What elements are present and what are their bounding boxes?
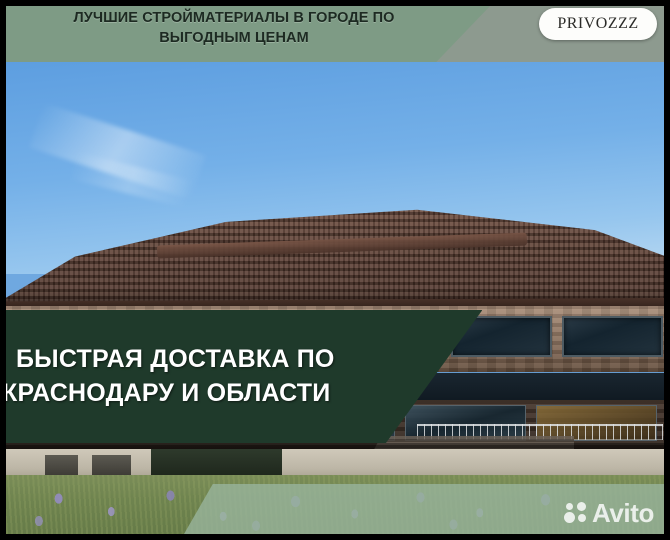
avito-logo-icon (564, 502, 588, 524)
roof (6, 204, 664, 306)
avito-wordmark: Avito (592, 500, 654, 526)
delivery-banner-line1: БЫСТРАЯ ДОСТАВКА ПО (0, 345, 482, 374)
header-headline-line2: ВЫГОДНЫМ ЦЕНАМ (24, 29, 444, 49)
brand-logo-pill[interactable]: PRIVOZZZ (539, 8, 657, 40)
window (562, 316, 664, 357)
delivery-banner-line2: КРАСНОДАРУ И ОБЛАСТИ (0, 379, 482, 408)
header-headline-line1: ЛУЧШИЕ СТРОЙМАТЕРИАЛЫ В ГОРОДЕ ПО (24, 9, 444, 29)
avito-listing-image: ПЛИТКА ТРОТУАРНАЯ КИРПИЧ КРОВЛЯ (0, 0, 670, 540)
listing-photo: ПЛИТКА ТРОТУАРНАЯ КИРПИЧ КРОВЛЯ (6, 62, 664, 534)
brand-logo-text: PRIVOZZZ (557, 15, 638, 33)
avito-watermark: Avito (564, 500, 654, 526)
header-headline: ЛУЧШИЕ СТРОЙМАТЕРИАЛЫ В ГОРОДЕ ПО ВЫГОДН… (24, 9, 444, 48)
